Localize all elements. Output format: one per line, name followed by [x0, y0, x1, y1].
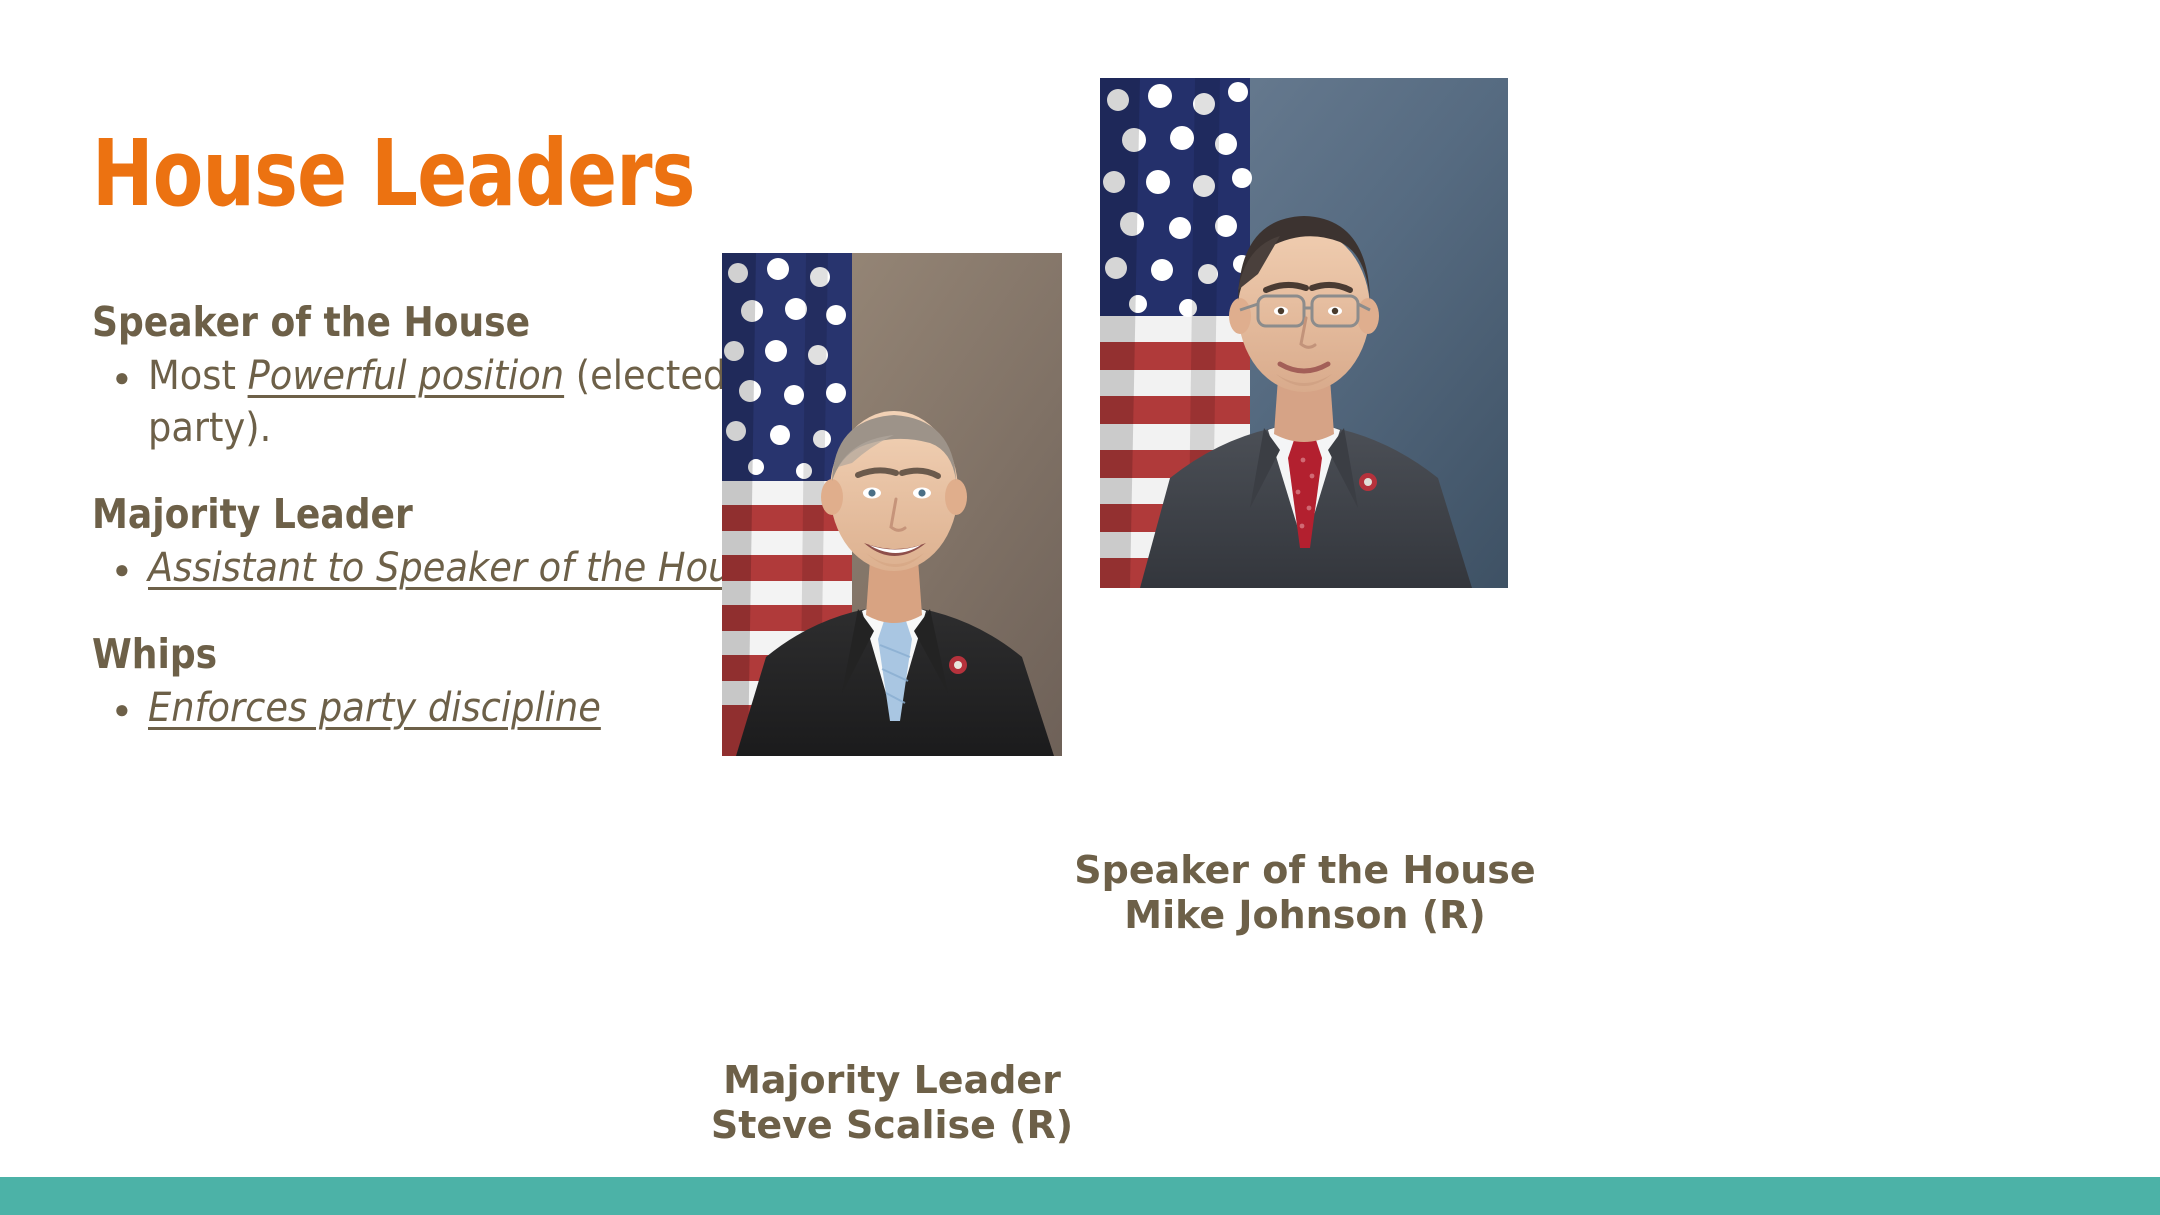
bullet-emphasis: Powerful position: [248, 353, 565, 399]
caption-steve-scalise: Majority Leader Steve Scalise (R): [672, 1058, 1112, 1148]
portrait-scalise-graphic: [722, 253, 1062, 756]
caption-line-2: Steve Scalise (R): [672, 1103, 1112, 1148]
caption-line-2: Mike Johnson (R): [1060, 893, 1550, 938]
bullet-dot-icon: [92, 350, 148, 399]
caption-line-1: Speaker of the House: [1060, 848, 1550, 893]
bullet-prefix: Most: [148, 353, 248, 399]
bottom-accent-bar: [0, 1177, 2160, 1215]
bullet-dot-icon: [92, 682, 148, 731]
bullet-dot-icon: [92, 542, 148, 591]
bullet-emphasis: Assistant to Speaker of the House: [148, 545, 773, 591]
portrait-mike-johnson: [1100, 78, 1508, 588]
caption-mike-johnson: Speaker of the House Mike Johnson (R): [1060, 848, 1550, 938]
portrait-johnson-graphic: [1100, 78, 1508, 588]
slide-canvas: House Leaders Speaker of the House Most …: [0, 0, 2160, 1215]
bullet-emphasis: Enforces party discipline: [148, 685, 601, 731]
page-title: House Leaders: [92, 128, 695, 220]
caption-line-1: Majority Leader: [672, 1058, 1112, 1103]
portrait-steve-scalise: [722, 253, 1062, 756]
